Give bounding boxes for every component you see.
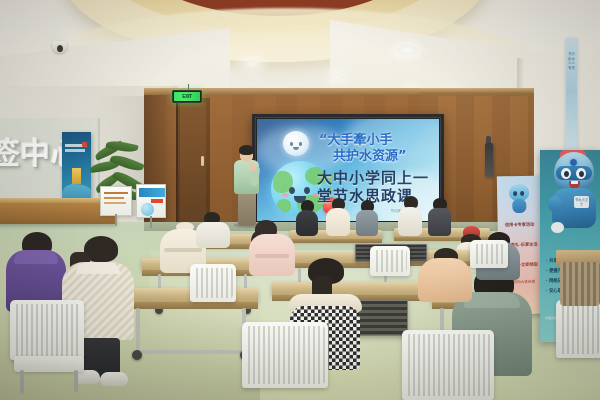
coat-hood [464, 292, 520, 308]
smiling-moon-icon [283, 131, 309, 156]
vertical-wall-banner: 节约用水 人人有责 [566, 38, 577, 156]
chair-slats [13, 304, 81, 356]
camera-lens-icon [57, 45, 63, 52]
chair-slats [405, 334, 491, 396]
chair[interactable] [10, 300, 84, 360]
chair-leg [74, 370, 78, 392]
display-stand-poster-left [100, 186, 132, 216]
moon-eye [299, 142, 302, 146]
chair-slats [473, 244, 505, 264]
mascot-hand [551, 222, 564, 233]
mascot-badge-text: 节水小卫士 [575, 198, 588, 206]
ceiling-downlight [243, 60, 261, 68]
poster-text-line [104, 202, 126, 204]
ceiling-downlight [330, 74, 343, 80]
screen-headline-line2: 共护水资源” [333, 149, 439, 164]
wood-wall-trim-right [420, 88, 532, 94]
exit-sign-label: EXIT [174, 92, 200, 101]
student-back-dark-right [428, 198, 451, 234]
poster-gold-element [72, 168, 81, 184]
poster-water-wave [62, 184, 91, 198]
student-coat [398, 207, 422, 236]
desk-edge [290, 239, 382, 243]
door-handle[interactable] [201, 156, 204, 166]
student-mid-white-coat [196, 212, 230, 246]
moon-eye [290, 142, 293, 146]
chair-slats [373, 250, 407, 272]
chair-slats [193, 268, 233, 298]
coat-hood [14, 250, 58, 264]
chair[interactable] [370, 246, 410, 276]
screen-headline-line1: “大手牽小手 [319, 133, 437, 148]
poster-text-line [104, 197, 124, 199]
mascot-body [512, 199, 526, 213]
mascot-eye [520, 191, 524, 196]
classroom-photo-scene: EXIT 节约用水 人人有责 “大手牽 [0, 0, 600, 400]
ceiling-downlight [66, 35, 78, 41]
student-back-white [398, 196, 422, 234]
earth-continent [277, 199, 291, 213]
chair[interactable] [190, 264, 236, 302]
ceiling-downlight [396, 45, 418, 55]
poster-globe-icon [141, 203, 154, 216]
coat-collar [76, 262, 120, 274]
chair-leg [20, 370, 24, 394]
earth-eye [304, 187, 310, 194]
mascot-forehead-gem [570, 159, 577, 166]
blue-water-poster [62, 132, 91, 198]
glass-sign-char-2: 中 [20, 140, 50, 170]
chair[interactable] [402, 330, 494, 400]
desk-caster [132, 350, 142, 360]
display-stand-poster-right [136, 184, 166, 218]
student-coat [418, 258, 472, 302]
earth-blush [282, 193, 289, 197]
poster-text-line [65, 149, 85, 152]
mascot-arm [548, 196, 562, 212]
chair-slats [245, 326, 325, 384]
poster-red-accent [82, 142, 87, 147]
chair[interactable] [242, 322, 328, 388]
student-back-cream [326, 198, 350, 234]
standee-mascot-small-icon [506, 184, 533, 216]
coat-fold [164, 248, 202, 252]
mascot-pupil [564, 171, 569, 177]
coat-fold [255, 254, 289, 258]
presenter-legs [238, 192, 256, 226]
desk-leg [136, 308, 140, 352]
basket-right [560, 262, 600, 306]
reception-counter-top [0, 198, 116, 203]
mascot-eye [513, 191, 517, 196]
chair[interactable] [470, 240, 508, 268]
mascot-tooth [571, 181, 578, 184]
student-coat [196, 222, 230, 248]
student-back-black-coat [296, 200, 318, 234]
wall-fixture [485, 143, 493, 177]
student-back-grey [356, 200, 378, 234]
vertical-wall-banner-text: 节约用水 人人有责 [567, 52, 576, 70]
student-coat [296, 210, 318, 236]
poster-text-line [104, 192, 128, 194]
chair-seat[interactable] [14, 356, 84, 372]
presenter-hand [249, 163, 256, 171]
student-right-peach [418, 248, 472, 300]
plant-leaf [109, 152, 144, 174]
poster-red-accent [151, 199, 163, 203]
stand-leg [115, 214, 117, 226]
desk-crossbar [136, 350, 246, 354]
presenter-hair [239, 145, 254, 155]
chair[interactable] [556, 300, 600, 358]
emergency-exit-sign: EXIT [172, 90, 202, 103]
standee-text-line1: 信用卡专享活动 [502, 222, 538, 229]
student-coat [428, 208, 451, 236]
chair-slats [559, 304, 599, 354]
desk [118, 288, 258, 303]
reception-counter [0, 200, 116, 224]
blue-water-guardian-mascot-icon: 节水小卫士 [548, 152, 598, 240]
mascot-pupil [579, 171, 584, 177]
student-shoe [100, 372, 128, 386]
student-coat [356, 210, 378, 236]
student-coat [326, 208, 350, 236]
moon-mouth [293, 147, 299, 150]
stand-leg [150, 216, 152, 228]
glass-sign-char-1: 签 [0, 140, 20, 170]
earth-eye [289, 187, 295, 194]
poster-header-band [139, 188, 165, 197]
